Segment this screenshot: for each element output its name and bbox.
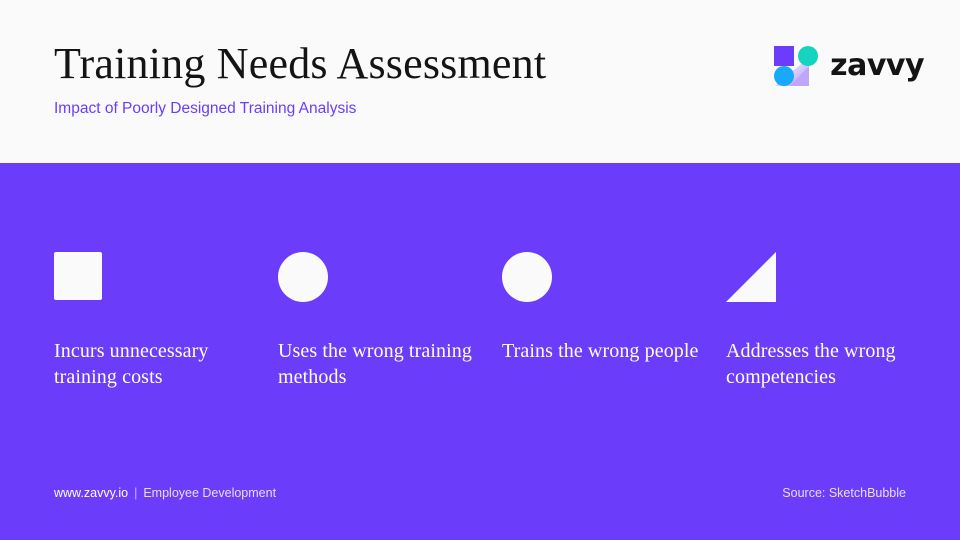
impact-card-label: Trains the wrong people xyxy=(502,338,702,364)
footer-separator: | xyxy=(134,486,137,500)
circle-icon xyxy=(278,252,328,302)
impact-card: Addresses the wrong competencies xyxy=(726,252,914,390)
impact-card-label: Incurs unnecessary training costs xyxy=(54,338,254,390)
page-subtitle: Impact of Poorly Designed Training Analy… xyxy=(54,98,546,120)
slide-header: Training Needs Assessment Impact of Poor… xyxy=(0,0,960,163)
footer-source: Source: SketchBubble xyxy=(782,486,906,500)
title-block: Training Needs Assessment Impact of Poor… xyxy=(54,38,546,120)
circle-icon xyxy=(502,252,552,302)
square-icon xyxy=(54,252,104,302)
footer-website-link[interactable]: www.zavvy.io xyxy=(54,486,128,500)
impact-card-label: Uses the wrong training methods xyxy=(278,338,478,390)
impact-card: Incurs unnecessary training costs xyxy=(54,252,278,390)
content-panel: Incurs unnecessary training costs Uses t… xyxy=(0,163,960,540)
impact-card-list: Incurs unnecessary training costs Uses t… xyxy=(54,252,914,390)
footer-department: Employee Development xyxy=(143,486,276,500)
impact-card: Uses the wrong training methods xyxy=(278,252,502,390)
zavvy-wordmark: zavvy xyxy=(830,51,924,81)
slide: Training Needs Assessment Impact of Poor… xyxy=(0,0,960,540)
brand-logo[interactable]: zavvy xyxy=(766,38,924,94)
page-title: Training Needs Assessment xyxy=(54,38,546,90)
slide-footer: www.zavvy.io | Employee Development Sour… xyxy=(0,478,960,508)
impact-card-label: Addresses the wrong competencies xyxy=(726,338,914,390)
triangle-icon xyxy=(726,252,776,302)
impact-card: Trains the wrong people xyxy=(502,252,726,390)
footer-attribution: www.zavvy.io | Employee Development xyxy=(54,486,276,500)
zavvy-logo-mark xyxy=(766,40,818,92)
